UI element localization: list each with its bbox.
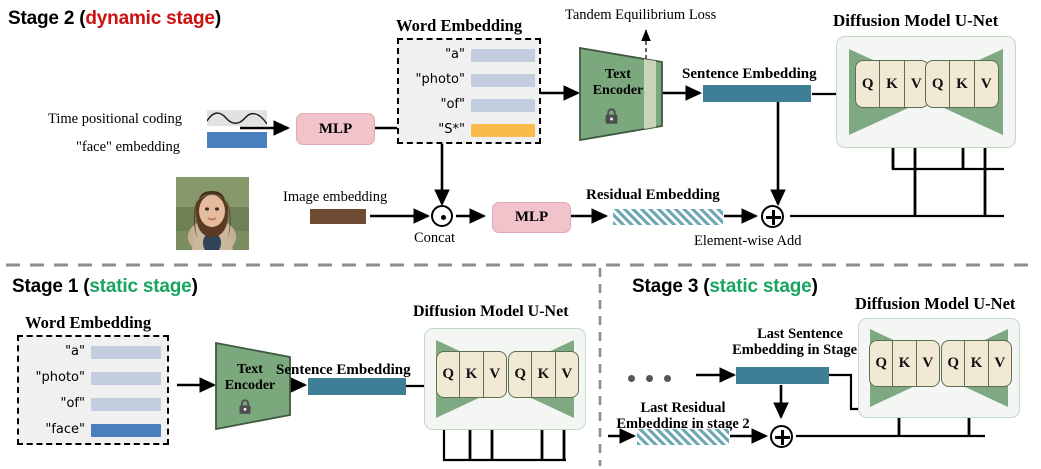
last-sentence-embedding-line1: Last Sentence <box>757 326 843 342</box>
stage1-qkv-block-left[interactable]: Q K V <box>436 351 507 398</box>
time-positional-coding-bar <box>207 110 267 126</box>
stage3-title: Stage 3 (static stage) <box>632 276 818 298</box>
image-embedding-label: Image embedding <box>283 189 387 206</box>
stage2-sentence-embedding-bar <box>703 85 811 102</box>
elementwise-add-label: Element-wise Add <box>694 233 802 250</box>
stage1-qkv-left-q[interactable]: Q <box>437 352 460 397</box>
stage2-token-bar-0 <box>471 49 535 62</box>
stage2-qkv-block-right[interactable]: Q K V <box>925 60 999 108</box>
stage1-title-prefix: Stage 1 ( <box>12 276 89 297</box>
stage3-unet-header: Diffusion Model U-Net <box>855 294 1015 314</box>
mlp-box-concat[interactable]: MLP <box>492 202 571 233</box>
stage1-text-encoder-label: Text Encoder <box>217 362 283 393</box>
time-positional-coding-label: Time positional coding <box>48 111 182 128</box>
last-sentence-embedding-bar <box>736 367 829 384</box>
ellipsis-dot-3 <box>664 375 671 382</box>
stage2-word-embedding-header: Word Embedding <box>396 16 522 36</box>
last-residual-embedding-line1: Last Residual <box>640 400 725 416</box>
stage1-qkv-left-k[interactable]: K <box>460 352 483 397</box>
stage2-text-encoder-line2: Encoder <box>593 83 644 98</box>
stage1-token-word-0: "a" <box>23 344 85 359</box>
concat-label: Concat <box>414 230 455 247</box>
stage3-title-highlight: static stage <box>709 276 811 297</box>
stage2-qkv-right-k[interactable]: K <box>950 61 974 107</box>
stage1-unet-header: Diffusion Model U-Net <box>413 303 569 321</box>
stage3-qkv-left-q[interactable]: Q <box>870 341 893 386</box>
stage3-title-prefix: Stage 3 ( <box>632 276 709 297</box>
stage3-qkv-block-left[interactable]: Q K V <box>869 340 940 387</box>
stage3-ellipsis-dots <box>628 369 682 387</box>
stage2-qkv-left-q[interactable]: Q <box>856 61 880 107</box>
stage2-qkv-left-k[interactable]: K <box>880 61 904 107</box>
concat-dot-icon <box>431 205 453 227</box>
stage3-title-suffix: ) <box>812 276 818 297</box>
ellipsis-dot-2 <box>646 375 653 382</box>
stage3-qkv-block-right[interactable]: Q K V <box>941 340 1012 387</box>
stage2-title-prefix: Stage 2 ( <box>8 8 85 29</box>
stage1-title: Stage 1 (static stage) <box>12 276 198 298</box>
stage2-unet-header: Diffusion Model U-Net <box>833 11 998 31</box>
stage1-text-encoder-line1: Text <box>237 362 263 377</box>
stage3-qkv-right-k[interactable]: K <box>965 341 988 386</box>
stage1-token-word-2: "of" <box>23 396 85 411</box>
stage1-token-bar-2 <box>91 398 161 411</box>
stage1-token-bar-0 <box>91 346 161 359</box>
stage2-sentence-embedding-label: Sentence Embedding <box>682 66 817 83</box>
stage1-token-word-1: "photo" <box>23 370 85 385</box>
plus-circle-icon-stage3 <box>770 425 793 448</box>
reference-face-photo <box>176 177 249 250</box>
stage2-qkv-right-v[interactable]: V <box>975 61 998 107</box>
stage2-title: Stage 2 (dynamic stage) <box>8 8 221 30</box>
stage1-qkv-right-v[interactable]: V <box>556 352 578 397</box>
stage1-qkv-left-v[interactable]: V <box>484 352 506 397</box>
stage2-text-encoder-label: Text Encoder <box>583 67 653 98</box>
stage1-title-highlight: static stage <box>89 276 191 297</box>
stage2-title-highlight: dynamic stage <box>85 8 214 29</box>
stage2-qkv-right-q[interactable]: Q <box>926 61 950 107</box>
stage1-sentence-embedding-bar <box>308 378 406 395</box>
plus-circle-icon-stage2 <box>761 205 784 228</box>
face-embedding-bar <box>207 132 267 148</box>
stage1-token-word-3: "face" <box>23 422 85 437</box>
stage3-qkv-right-q[interactable]: Q <box>942 341 965 386</box>
stage1-token-bar-1 <box>91 372 161 385</box>
stage1-text-encoder-line2: Encoder <box>225 378 276 393</box>
image-embedding-bar <box>310 209 366 224</box>
stage2-qkv-block-left[interactable]: Q K V <box>855 60 929 108</box>
stage2-text-encoder-line1: Text <box>605 67 631 82</box>
stage2-token-word-1: "photo" <box>403 72 465 87</box>
last-sentence-embedding-line2: Embedding in Stage 2 <box>732 342 868 358</box>
stage3-qkv-left-v[interactable]: V <box>917 341 939 386</box>
stage1-sentence-embedding-label: Sentence Embedding <box>276 362 411 379</box>
stage1-qkv-right-k[interactable]: K <box>532 352 555 397</box>
stage2-token-bar-3 <box>471 124 535 137</box>
residual-embedding-label: Residual Embedding <box>586 187 720 204</box>
stage2-token-word-3: "S*" <box>403 122 465 137</box>
stage1-token-bar-3 <box>91 424 161 437</box>
stage1-word-embedding-header: Word Embedding <box>25 313 151 333</box>
stage1-qkv-right-q[interactable]: Q <box>509 352 532 397</box>
ellipsis-dot-1 <box>628 375 635 382</box>
last-residual-embedding-bar <box>636 428 730 446</box>
stage2-title-suffix: ) <box>215 8 221 29</box>
mlp-box-time[interactable]: MLP <box>296 113 375 145</box>
stage1-qkv-block-right[interactable]: Q K V <box>508 351 579 398</box>
stage2-token-bar-1 <box>471 74 535 87</box>
lock-icon <box>604 108 619 130</box>
residual-embedding-bar <box>612 208 724 226</box>
stage3-qkv-left-k[interactable]: K <box>893 341 916 386</box>
stage2-token-word-0: "a" <box>403 47 465 62</box>
stage2-token-bar-2 <box>471 99 535 112</box>
tandem-loss-label: Tandem Equilibrium Loss <box>565 7 716 24</box>
stage1-title-suffix: ) <box>192 276 198 297</box>
face-embedding-label: "face" embedding <box>76 139 180 156</box>
stage2-token-word-2: "of" <box>403 97 465 112</box>
stage3-qkv-right-v[interactable]: V <box>989 341 1011 386</box>
lock-icon-stage1 <box>238 399 252 420</box>
